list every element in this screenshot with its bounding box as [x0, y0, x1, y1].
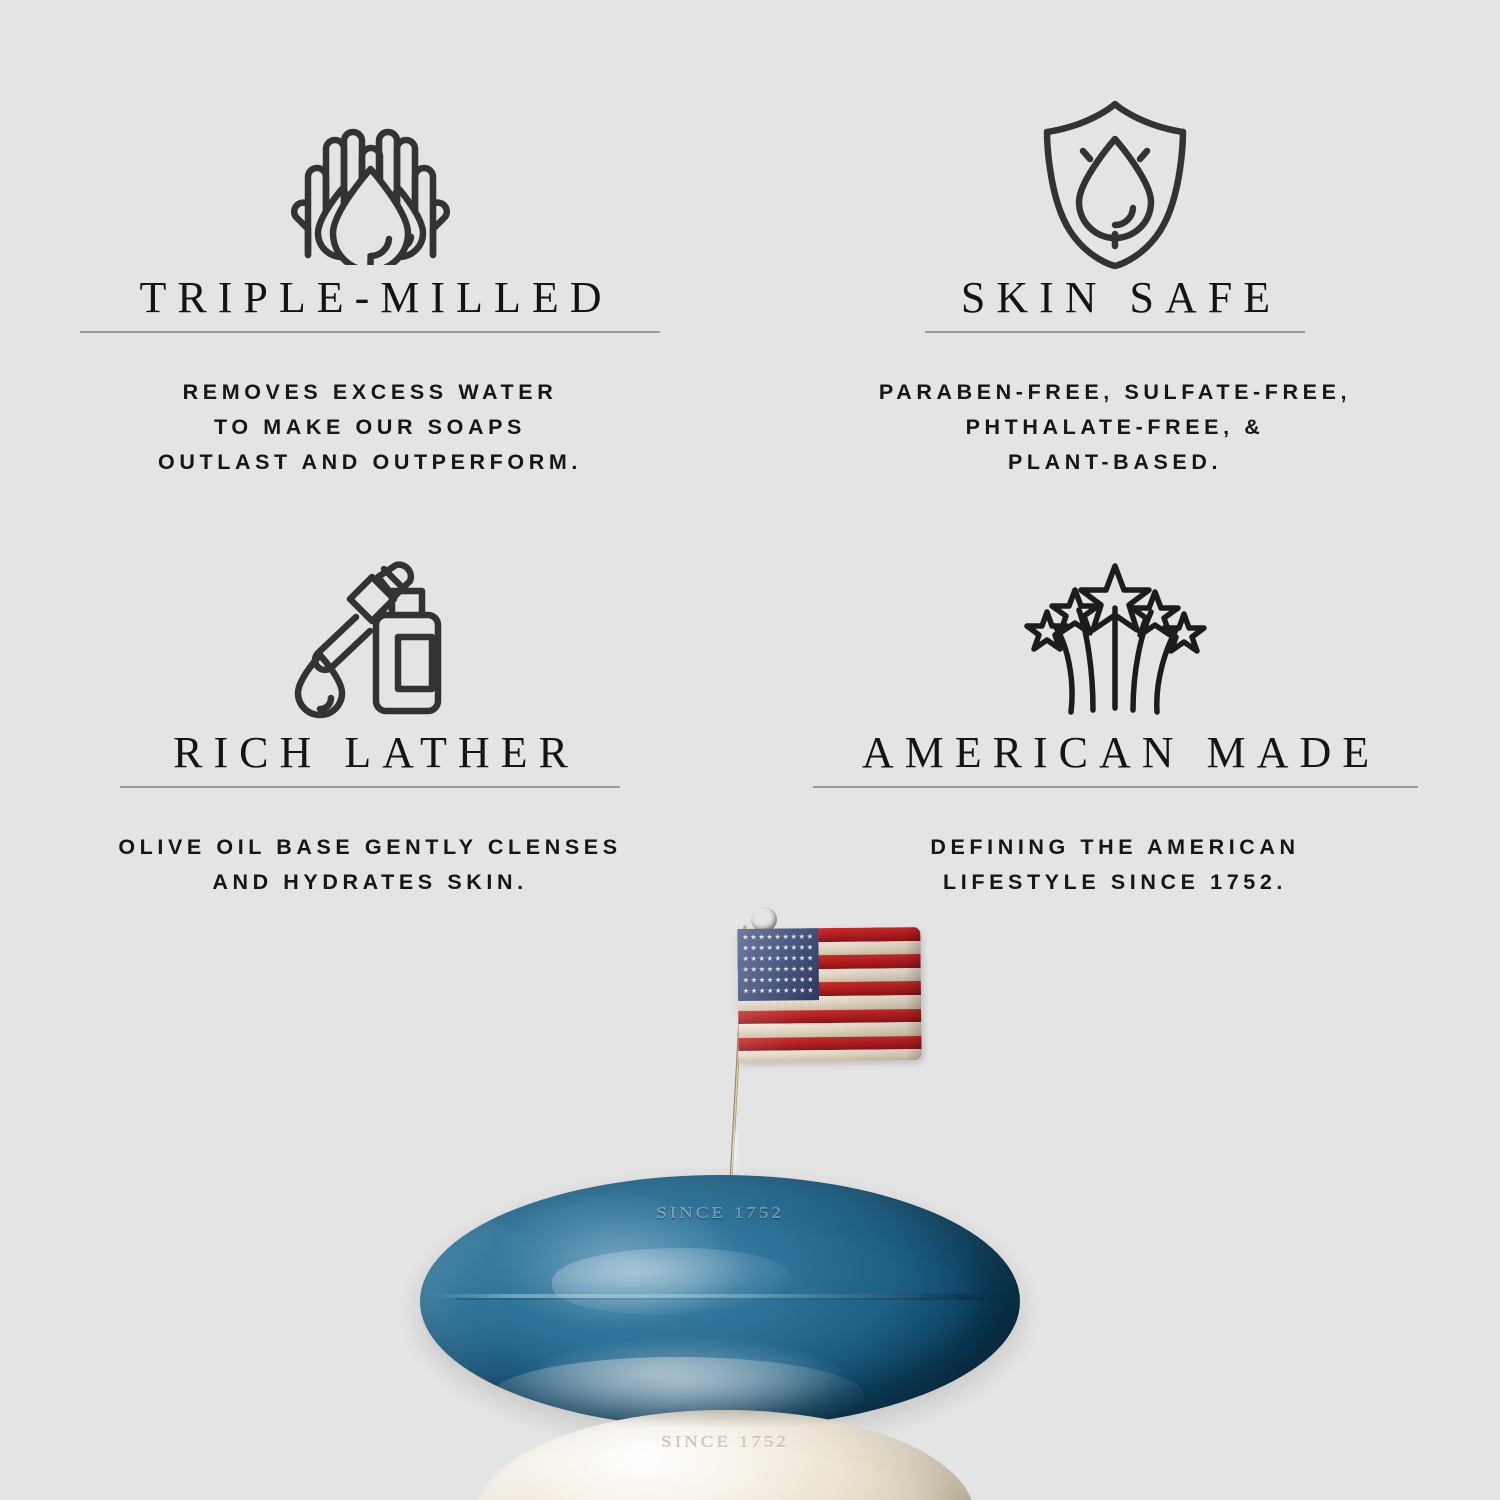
title-underline: [813, 786, 1418, 788]
flag-sheen: [737, 927, 921, 1062]
flag-ripple-shadow: [904, 927, 921, 1060]
fireworks-icon: [765, 550, 1465, 730]
shield-with-droplet-icon: [765, 95, 1465, 275]
feature-american-made: AMERICAN MADE DEFINING THE AMERICAN LIFE…: [765, 550, 1465, 900]
product-feature-infographic: TRIPLE-MILLED REMOVES EXCESS WATER TO MA…: [0, 0, 1500, 1500]
feature-triple-milled: TRIPLE-MILLED REMOVES EXCESS WATER TO MA…: [20, 95, 720, 480]
desc-line: OUTLAST AND OUTPERFORM.: [20, 445, 720, 480]
feature-title: AMERICAN MADE: [848, 730, 1382, 786]
soap-left-facet: [420, 1221, 552, 1383]
feature-title: TRIPLE-MILLED: [126, 275, 615, 331]
desc-line: PLANT-BASED.: [765, 445, 1465, 480]
title-underline: [925, 331, 1305, 333]
desc-line: PARABEN-FREE, SULFATE-FREE,: [765, 375, 1465, 410]
soap-emboss-text: SINCE 1752: [475, 1433, 975, 1451]
desc-line: REMOVES EXCESS WATER: [20, 375, 720, 410]
soap-contact-shadow: [495, 1410, 955, 1428]
soap-gloss-highlight: [551, 1244, 793, 1318]
cream-soap-bar: SINCE 1752: [475, 1410, 975, 1500]
feature-description: PARABEN-FREE, SULFATE-FREE, PHTHALATE-FR…: [765, 375, 1465, 479]
desc-line: DEFINING THE AMERICAN: [765, 830, 1465, 865]
feature-description: REMOVES EXCESS WATER TO MAKE OUR SOAPS O…: [20, 375, 720, 479]
desc-line: OLIVE OIL BASE GENTLY CLENSES: [20, 830, 720, 865]
title-underline: [80, 331, 660, 333]
blue-soap-bar: SINCE 1752: [420, 1175, 1020, 1428]
product-photo: SINCE 1752 SINCE 1752: [0, 880, 1500, 1500]
soap-seam-shadow: [456, 1298, 984, 1300]
feature-skin-safe: SKIN SAFE PARABEN-FREE, SULFATE-FREE, PH…: [765, 95, 1465, 480]
dropper-and-bottle-icon: [20, 550, 720, 730]
american-flag-pick: [737, 927, 921, 1062]
feature-title: SKIN SAFE: [947, 275, 1283, 331]
hands-with-droplet-icon: [20, 95, 720, 275]
feature-rich-lather: RICH LATHER OLIVE OIL BASE GENTLY CLENSE…: [20, 550, 720, 900]
soap-emboss-text: SINCE 1752: [420, 1205, 1020, 1223]
desc-line: PHTHALATE-FREE, &: [765, 410, 1465, 445]
desc-line: TO MAKE OUR SOAPS: [20, 410, 720, 445]
title-underline: [120, 786, 620, 788]
feature-title: RICH LATHER: [159, 730, 581, 786]
